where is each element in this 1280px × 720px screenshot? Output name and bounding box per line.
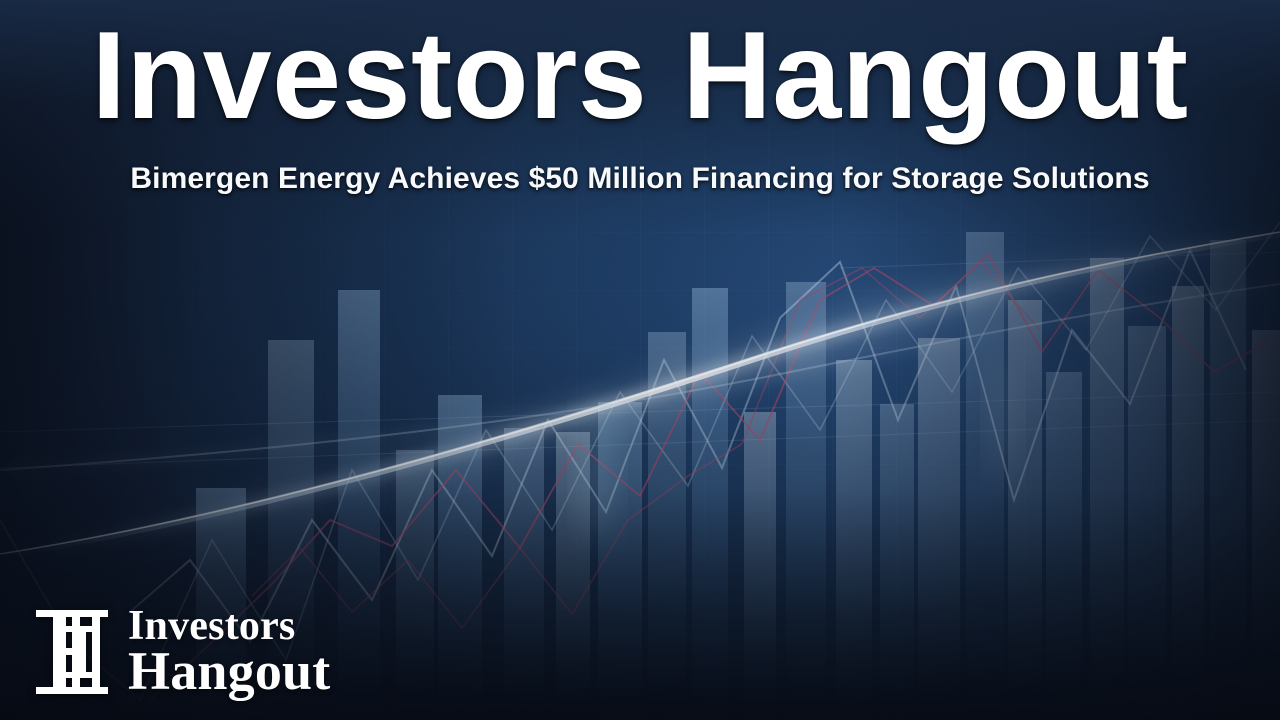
brand-logo[interactable]: Investors Hangout xyxy=(26,602,330,702)
brand-word-hangout: Hangout xyxy=(128,645,330,698)
page-title: Investors Hangout xyxy=(0,0,1280,138)
article-headline: Bimergen Energy Achieves $50 Million Fin… xyxy=(0,138,1280,197)
article-banner: Investors Hangout Bimergen Energy Achiev… xyxy=(0,0,1280,720)
ih-monogram-icon xyxy=(26,602,118,702)
brand-wordmark: Investors Hangout xyxy=(128,606,330,697)
headline-block: Investors Hangout Bimergen Energy Achiev… xyxy=(0,0,1280,197)
